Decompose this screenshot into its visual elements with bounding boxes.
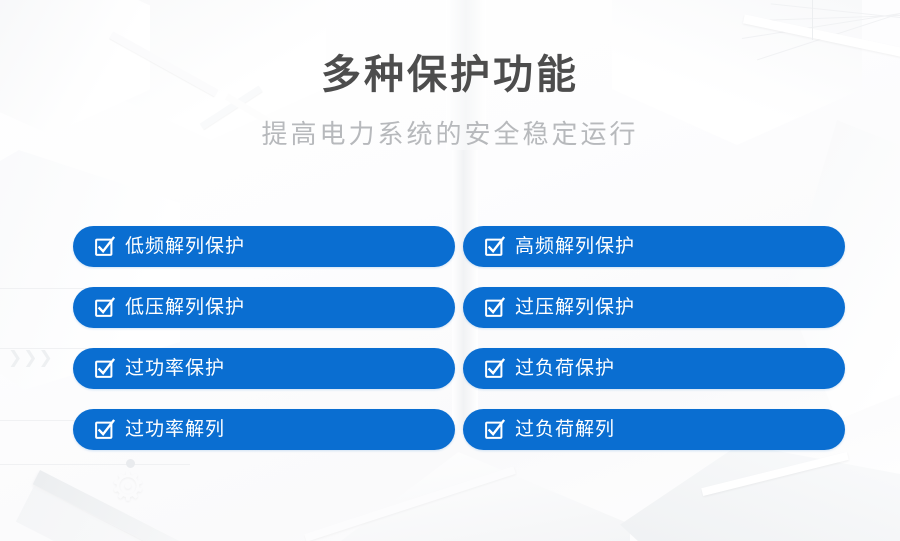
diagonal-band-bottom-left-shadow — [16, 486, 257, 541]
feature-pill-label: 过负荷保护 — [515, 359, 615, 378]
checkbox-checked-icon — [485, 237, 504, 256]
checkbox-checked-icon — [95, 237, 114, 256]
edge-strip-bottom-center — [304, 466, 516, 541]
feature-pill-low-frequency-splitting-protection[interactable]: 低频解列保护 — [73, 226, 455, 267]
feature-pill-low-voltage-splitting-protection[interactable]: 低压解列保护 — [73, 287, 455, 328]
feature-pill-label: 低频解列保护 — [125, 237, 245, 256]
ray-line-2 — [742, 13, 900, 39]
page-subtitle: 提高电力系统的安全稳定运行 — [0, 120, 900, 150]
feature-pill-over-power-splitting[interactable]: 过功率解列 — [73, 409, 455, 450]
feature-list: 低频解列保护 高频解列保护 低压解列保护 — [73, 226, 845, 450]
feature-pill-over-voltage-splitting-protection[interactable]: 过压解列保护 — [463, 287, 845, 328]
feature-pill-high-frequency-splitting-protection[interactable]: 高频解列保护 — [463, 226, 845, 267]
hairline-vertical-top-right — [812, 0, 813, 40]
feature-pill-label: 过功率解列 — [125, 420, 225, 439]
gear-icon: ⚙ — [110, 467, 146, 507]
checkbox-checked-icon — [485, 298, 504, 317]
facet-bottom-right — [620, 444, 900, 541]
node-dot-decor — [126, 459, 135, 468]
page-title: 多种保护功能 — [0, 52, 900, 98]
checkbox-checked-icon — [95, 298, 114, 317]
feature-pill-label: 过压解列保护 — [515, 298, 635, 317]
feature-pill-label: 高频解列保护 — [515, 237, 635, 256]
facet-bottom-center — [300, 452, 630, 541]
ray-line-3 — [755, 15, 900, 21]
edge-strip-bottom-right — [701, 452, 848, 496]
feature-pill-label: 过功率保护 — [125, 359, 225, 378]
feature-pill-label: 过负荷解列 — [515, 420, 615, 439]
chevron-decor-icon: ❯❯❯ — [8, 348, 54, 368]
ray-line-4 — [771, 3, 900, 18]
checkbox-checked-icon — [95, 359, 114, 378]
header: 多种保护功能 提高电力系统的安全稳定运行 — [0, 52, 900, 150]
checkbox-checked-icon — [485, 359, 504, 378]
diagonal-band-bottom-left — [33, 470, 272, 541]
checkbox-checked-icon — [95, 420, 114, 439]
feature-pill-overload-protection[interactable]: 过负荷保护 — [463, 348, 845, 389]
hairline-left-4 — [0, 464, 190, 465]
checkbox-checked-icon — [485, 420, 504, 439]
promo-banner: ❯❯❯ ⚙ 多种保护功能 提高电力系统的安全稳定运行 — [0, 0, 900, 541]
feature-pill-label: 低压解列保护 — [125, 298, 245, 317]
feature-pill-overload-splitting[interactable]: 过负荷解列 — [463, 409, 845, 450]
feature-pill-over-power-protection[interactable]: 过功率保护 — [73, 348, 455, 389]
